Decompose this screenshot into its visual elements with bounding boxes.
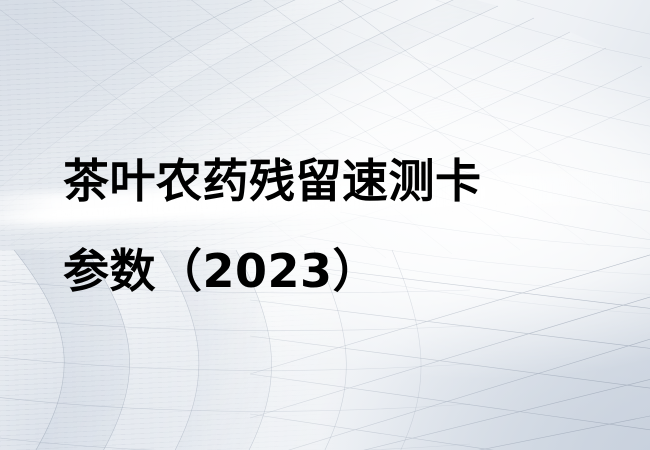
banner-title-line-1: 茶叶农药残留速测卡 — [63, 136, 603, 226]
banner-image: 茶叶农药残留速测卡 参数（2023） — [0, 0, 650, 450]
banner-title-line-2: 参数（2023） — [63, 226, 603, 316]
banner-title: 茶叶农药残留速测卡 参数（2023） — [63, 136, 603, 316]
